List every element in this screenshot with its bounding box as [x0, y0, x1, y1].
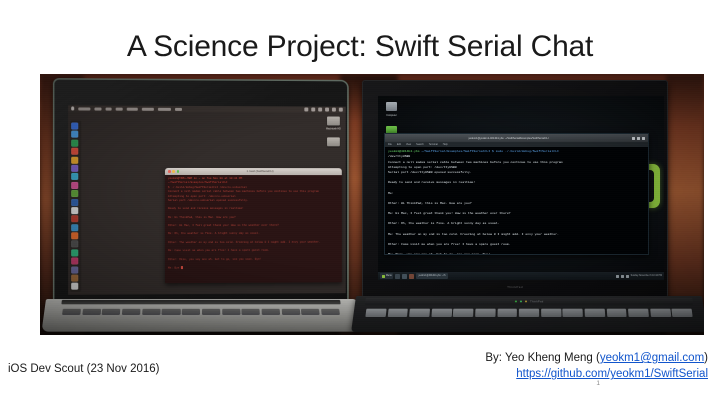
page-title: A Science Project: Swift Serial Chat: [0, 30, 720, 64]
menubar-item: [116, 107, 123, 110]
dock-icon[interactable]: [71, 258, 78, 265]
key[interactable]: [519, 309, 539, 317]
author-email-link[interactable]: yeokm1@gmail.com: [600, 352, 704, 364]
key[interactable]: [142, 309, 161, 315]
macos-desktop-icons: Macintosh HD: [326, 117, 341, 147]
dock-icon[interactable]: [71, 232, 78, 239]
menu-search[interactable]: Search: [416, 143, 424, 146]
mint-taskbar[interactable]: Menu yeokm1@4014b4-ybs: ~/S Sunday Novem…: [378, 272, 664, 280]
power-led-icon: [514, 300, 516, 302]
launcher-icon[interactable]: [402, 274, 407, 279]
dock-icon[interactable]: [71, 224, 78, 231]
terminal-line-last: Me: Bye!: [168, 265, 339, 270]
macbook-keyboard[interactable]: [62, 309, 340, 315]
project-url-link[interactable]: https://github.com/yeokm1/SwiftSerial: [516, 368, 708, 380]
dock-icon[interactable]: [71, 275, 78, 282]
status-icon[interactable]: [304, 108, 308, 111]
key[interactable]: [281, 309, 300, 315]
key[interactable]: [102, 309, 121, 315]
menubar-item: [94, 107, 101, 110]
mint-menu-button[interactable]: Menu: [380, 273, 393, 279]
dock-icon[interactable]: [71, 165, 78, 172]
macos-dock[interactable]: [70, 120, 81, 292]
dock-icon[interactable]: [71, 266, 78, 273]
terminal-title: 1. bash (SwiftSerialCLI): [181, 170, 339, 173]
system-tray[interactable]: Sunday November 6 10:44 PM: [616, 275, 662, 278]
menu-terminal[interactable]: Terminal: [429, 143, 438, 146]
key[interactable]: [409, 309, 430, 317]
spotlight-icon[interactable]: [339, 108, 343, 111]
linux-terminal-window[interactable]: yeokm1@yeokm1-4014b4-ybs: ~/SwiftSerial/…: [384, 133, 649, 255]
key[interactable]: [584, 309, 604, 317]
key[interactable]: [62, 309, 81, 315]
dock-icon[interactable]: [71, 123, 78, 130]
key[interactable]: [497, 309, 517, 317]
key[interactable]: [563, 309, 583, 317]
dock-icon[interactable]: [71, 241, 78, 248]
close-icon[interactable]: [642, 137, 645, 140]
dock-icon[interactable]: [71, 190, 78, 197]
menu-view[interactable]: View: [406, 143, 411, 146]
hard-disk-icon[interactable]: [327, 117, 340, 126]
key[interactable]: [182, 309, 200, 315]
battery-led-icon: [520, 300, 522, 302]
key[interactable]: [321, 309, 340, 315]
window-controls[interactable]: [632, 137, 645, 140]
key[interactable]: [82, 309, 101, 315]
terminal-line: Connect a null modem serial cable betwee…: [168, 190, 339, 194]
mint-menu-icon: [382, 275, 385, 278]
wifi-icon[interactable]: [318, 108, 322, 111]
status-icon[interactable]: [311, 108, 315, 111]
slide-photo: Macintosh HD 1. bash (SwiftSerialCLI) ye…: [40, 74, 704, 335]
macbook-base: [42, 299, 361, 332]
maximize-icon[interactable]: [637, 137, 640, 140]
battery-icon[interactable]: [325, 108, 329, 111]
footer-author-line: By: Yeo Kheng Meng (yeokm1@gmail.com): [485, 350, 708, 366]
show-desktop-icon[interactable]: [395, 274, 400, 279]
macos-menubar[interactable]: [68, 105, 346, 112]
terminal-line: Other: The weather on my end is too cold…: [168, 240, 339, 245]
computer-icon-label: Computer: [386, 114, 397, 117]
close-icon[interactable]: [168, 170, 171, 173]
footer-author-prefix: By: Yeo Kheng Meng (: [485, 352, 599, 364]
dock-icon[interactable]: [71, 249, 78, 256]
macos-terminal-window[interactable]: 1. bash (SwiftSerialCLI) yeokm1@YKMs-MBP…: [165, 168, 342, 283]
dock-icon[interactable]: [71, 283, 78, 290]
menu-file[interactable]: File: [388, 143, 392, 146]
key[interactable]: [365, 309, 386, 317]
dock-icon[interactable]: [71, 148, 78, 155]
taskbar-window-button[interactable]: yeokm1@4014b4-ybs: ~/S: [416, 273, 447, 279]
terminal-title: yeokm1@yeokm1-4014b4-ybs: ~/SwiftSerial/…: [388, 137, 629, 140]
menubar-item: [127, 107, 138, 110]
key[interactable]: [242, 309, 261, 315]
terminal-line-text: Me: Bye!: [168, 266, 181, 269]
key[interactable]: [650, 309, 671, 317]
dock-icon[interactable]: [71, 207, 78, 214]
menubar-item: [158, 107, 171, 110]
macbook-laptop: Macintosh HD 1. bash (SwiftSerialCLI) ye…: [46, 77, 356, 335]
apple-icon[interactable]: [71, 106, 74, 110]
thinkpad-bezel-logo: ThinkPad: [507, 285, 523, 289]
volume-icon[interactable]: [621, 275, 624, 278]
dock-icon[interactable]: [71, 199, 78, 206]
key[interactable]: [475, 309, 495, 317]
macbook-lid: Macintosh HD 1. bash (SwiftSerialCLI) ye…: [53, 78, 349, 304]
disk-image-icon[interactable]: [327, 137, 340, 146]
key[interactable]: [672, 309, 693, 317]
clock-icon[interactable]: [332, 108, 336, 111]
terminal-cursor: [181, 266, 183, 269]
taskbar-clock[interactable]: Sunday November 6 10:44 PM: [631, 275, 662, 277]
key[interactable]: [453, 309, 473, 317]
thinkpad-keyboard[interactable]: [365, 309, 692, 317]
computer-icon[interactable]: [386, 102, 397, 111]
dock-icon[interactable]: [71, 156, 78, 163]
page-number: 1: [596, 380, 600, 387]
dock-icon[interactable]: [71, 182, 78, 189]
key[interactable]: [162, 309, 180, 315]
thinkpad-indicator-strip: ThinkPad: [365, 298, 693, 305]
key[interactable]: [541, 309, 561, 317]
macbook-screen: Macintosh HD 1. bash (SwiftSerialCLI) ye…: [68, 105, 346, 294]
terminal-line: Me: Okie, you say one ah. Got to go, see…: [388, 252, 645, 255]
key[interactable]: [261, 309, 280, 315]
menubar-item: [78, 107, 90, 110]
menu-help[interactable]: Help: [443, 143, 448, 146]
terminal-prompt-user: yeokm1@4014b4-ybs: [388, 149, 420, 153]
mint-menu-label: Menu: [386, 275, 392, 277]
minimize-icon[interactable]: [172, 170, 175, 173]
files-icon[interactable]: [409, 274, 414, 279]
key[interactable]: [301, 309, 320, 315]
footer-author-suffix: ): [704, 352, 708, 364]
thinkpad-base: ThinkPad: [351, 296, 704, 332]
thinkpad-brand-text: ThinkPad: [530, 300, 543, 303]
dock-icon[interactable]: [71, 173, 78, 180]
thinkpad-lid: m Computer yeokm1@yeokm1-4014b4-ybs: ~/S…: [362, 80, 668, 298]
minimize-icon[interactable]: [632, 137, 635, 140]
macbook-hinge: [61, 300, 340, 304]
menubar-item: [142, 107, 154, 110]
disk-led-icon: [525, 300, 527, 302]
menubar-item: [106, 107, 112, 110]
thinkpad-screen: m Computer yeokm1@yeokm1-4014b4-ybs: ~/S…: [378, 96, 664, 280]
dock-icon[interactable]: [71, 139, 78, 146]
mint-desktop-icons: Computer: [386, 102, 397, 135]
key[interactable]: [202, 309, 220, 315]
dock-icon[interactable]: [71, 215, 78, 222]
menubar-status-items[interactable]: [304, 108, 342, 112]
network-icon[interactable]: [616, 275, 619, 278]
hard-disk-label: Macintosh HD: [326, 127, 341, 130]
dock-icon[interactable]: [71, 131, 78, 138]
terminal-titlebar[interactable]: yeokm1@yeokm1-4014b4-ybs: ~/SwiftSerial/…: [385, 134, 648, 142]
key[interactable]: [222, 309, 240, 315]
macos-terminal-output: yeokm1@YKMs-MBP in ~ on Tue Nov 08 at 10…: [165, 175, 342, 273]
terminal-prompt-path: ~/SwiftSerial/Examples/SwiftSerialCLI $ …: [420, 149, 559, 153]
menubar-item: [175, 107, 182, 110]
menu-edit[interactable]: Edit: [397, 143, 401, 146]
key[interactable]: [122, 309, 141, 315]
key[interactable]: [431, 309, 452, 317]
update-icon[interactable]: [626, 275, 629, 278]
footer-event-label: iOS Dev Scout (23 Nov 2016): [8, 363, 160, 375]
footer-author-block: By: Yeo Kheng Meng (yeokm1@gmail.com) ht…: [485, 350, 708, 383]
linux-terminal-output: yeokm1@4014b4-ybs ~/SwiftSerial/Examples…: [385, 147, 648, 255]
key[interactable]: [628, 309, 649, 317]
maximize-icon[interactable]: [177, 170, 180, 173]
thinkpad-laptop: m Computer yeokm1@yeokm1-4014b4-ybs: ~/S…: [356, 74, 702, 335]
key[interactable]: [387, 309, 408, 317]
key[interactable]: [606, 309, 627, 317]
